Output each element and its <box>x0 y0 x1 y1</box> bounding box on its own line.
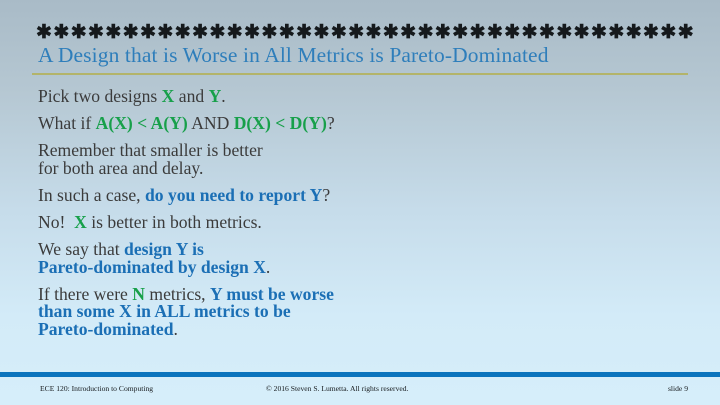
asterisk-icon: ✱ <box>487 23 503 42</box>
asterisk-icon: ✱ <box>608 23 624 42</box>
text-run-green: D(X) < D(Y) <box>234 113 327 133</box>
body-paragraph-pick-two-designs: Pick two designs X and Y. <box>38 88 508 106</box>
asterisk-icon: ✱ <box>175 23 191 42</box>
text-run-plain: . <box>174 319 178 339</box>
body-paragraph-need-to-report-y: In such a case, do you need to report Y? <box>38 187 508 205</box>
text-run-plain: AND <box>188 113 234 133</box>
body-paragraph-y-pareto-dominated: We say that design Y is Pareto-dominated… <box>38 241 508 277</box>
asterisk-divider: ✱✱✱✱✱✱✱✱✱✱✱✱✱✱✱✱✱✱✱✱✱✱✱✱✱✱✱✱✱✱✱✱✱✱✱✱✱✱ <box>36 20 694 40</box>
asterisk-icon: ✱ <box>556 23 572 42</box>
asterisk-icon: ✱ <box>279 23 295 42</box>
asterisk-icon: ✱ <box>348 23 364 42</box>
asterisk-icon: ✱ <box>435 23 451 42</box>
asterisk-icon: ✱ <box>366 23 382 42</box>
asterisk-icon: ✱ <box>418 23 434 42</box>
asterisk-icon: ✱ <box>53 23 69 42</box>
asterisk-icon: ✱ <box>522 23 538 42</box>
footer-copyright: © 2016 Steven S. Lumetta. All rights res… <box>266 384 408 393</box>
text-run-plain: In such a case, <box>38 185 145 205</box>
title-underline <box>32 73 688 75</box>
text-run-plain: No! <box>38 212 74 232</box>
text-run-plain: What if <box>38 113 96 133</box>
asterisk-icon: ✱ <box>678 23 694 42</box>
text-run-green: X <box>162 86 175 106</box>
asterisk-icon: ✱ <box>192 23 208 42</box>
asterisk-icon: ✱ <box>227 23 243 42</box>
slide: ✱✱✱✱✱✱✱✱✱✱✱✱✱✱✱✱✱✱✱✱✱✱✱✱✱✱✱✱✱✱✱✱✱✱✱✱✱✱ A… <box>0 0 720 405</box>
body-paragraph-x-is-better: No! X is better in both metrics. <box>38 214 508 232</box>
asterisk-icon: ✱ <box>331 23 347 42</box>
asterisk-icon: ✱ <box>296 23 312 42</box>
text-run-blue: do you need to report Y <box>145 185 322 205</box>
text-run-plain: . <box>221 86 225 106</box>
text-run-plain: is better in both metrics. <box>87 212 262 232</box>
text-run-plain: ? <box>327 113 335 133</box>
asterisk-icon: ✱ <box>36 23 52 42</box>
text-run-plain: and <box>174 86 208 106</box>
text-run-green: Y <box>209 86 222 106</box>
asterisk-icon: ✱ <box>504 23 520 42</box>
text-run-plain: ? <box>322 185 330 205</box>
body-paragraph-what-if-condition: What if A(X) < A(Y) AND D(X) < D(Y)? <box>38 115 508 133</box>
text-run-plain: Pick two designs <box>38 86 162 106</box>
asterisk-icon: ✱ <box>88 23 104 42</box>
asterisk-icon: ✱ <box>626 23 642 42</box>
asterisk-icon: ✱ <box>452 23 468 42</box>
asterisk-icon: ✱ <box>105 23 121 42</box>
slide-body: Pick two designs X and Y.What if A(X) < … <box>38 88 508 348</box>
asterisk-icon: ✱ <box>591 23 607 42</box>
body-paragraph-smaller-is-better: Remember that smaller is better for both… <box>38 142 508 178</box>
text-run-plain: . <box>266 257 270 277</box>
asterisk-icon: ✱ <box>71 23 87 42</box>
asterisk-icon: ✱ <box>157 23 173 42</box>
footer-slide-number: slide 9 <box>668 384 688 393</box>
text-run-green: A(X) < A(Y) <box>96 113 188 133</box>
asterisk-icon: ✱ <box>314 23 330 42</box>
asterisk-icon: ✱ <box>574 23 590 42</box>
asterisk-icon: ✱ <box>539 23 555 42</box>
slide-footer: ECE 120: Introduction to Computing © 201… <box>0 382 720 402</box>
text-run-green: X <box>74 212 87 232</box>
footer-accent-bar <box>0 372 720 377</box>
asterisk-icon: ✱ <box>660 23 676 42</box>
asterisk-icon: ✱ <box>209 23 225 42</box>
text-run-plain: Remember that smaller is better for both… <box>38 140 263 178</box>
asterisk-icon: ✱ <box>244 23 260 42</box>
footer-course: ECE 120: Introduction to Computing <box>40 384 153 393</box>
asterisk-icon: ✱ <box>261 23 277 42</box>
asterisk-icon: ✱ <box>470 23 486 42</box>
asterisk-icon: ✱ <box>643 23 659 42</box>
body-paragraph-n-metrics-rule: If there were N metrics, Y must be worse… <box>38 286 508 340</box>
asterisk-icon: ✱ <box>140 23 156 42</box>
asterisk-icon: ✱ <box>400 23 416 42</box>
asterisk-icon: ✱ <box>123 23 139 42</box>
asterisk-icon: ✱ <box>383 23 399 42</box>
slide-title: A Design that is Worse in All Metrics is… <box>38 43 688 68</box>
